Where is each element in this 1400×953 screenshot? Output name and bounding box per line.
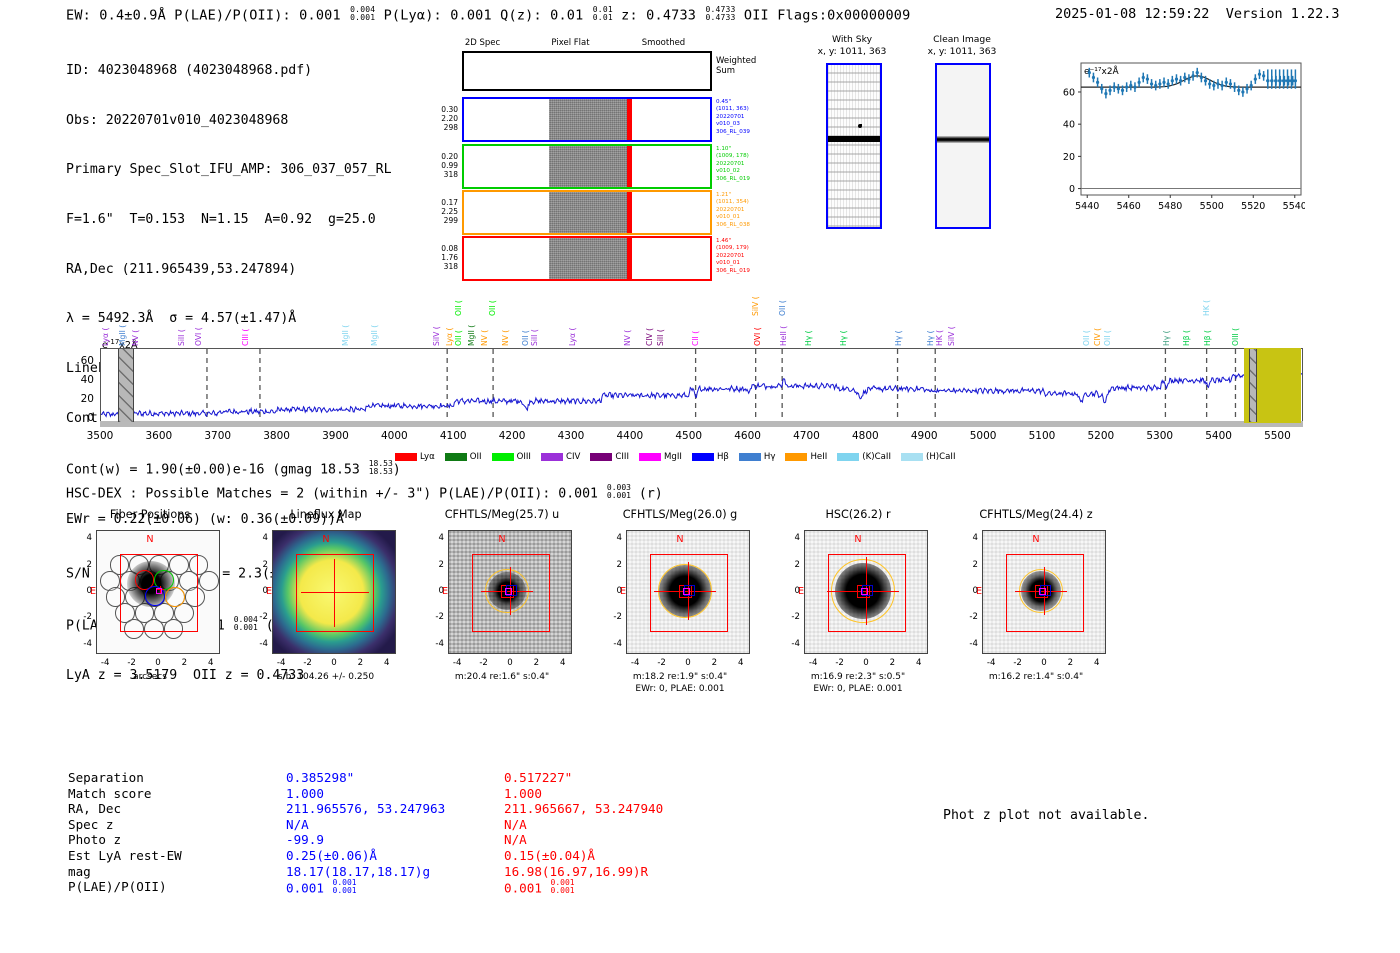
- match2-plae-fraction: 0.0010.001: [551, 879, 575, 895]
- emission-line-label: SiII (: [530, 300, 539, 346]
- cutout-ytick: -4: [66, 639, 92, 649]
- svg-text:5540: 5540: [1283, 201, 1305, 212]
- target-marker: [156, 588, 162, 594]
- emission-line-label: HeII (: [779, 300, 788, 346]
- emission-line-label: Hγ (: [804, 300, 813, 346]
- emission-line-label: MgII (: [341, 300, 350, 346]
- lineflux-cross-h: [301, 592, 369, 593]
- legend-item: Lyα: [395, 452, 435, 462]
- legend-item: (H)CaII: [901, 452, 956, 462]
- legend-swatch: [739, 453, 761, 461]
- legend-item: MgII: [639, 452, 682, 462]
- svg-text:5480: 5480: [1158, 201, 1182, 212]
- emission-line-label: OVI (: [194, 300, 203, 346]
- cutout-ytick: 2: [952, 560, 978, 570]
- cutout-ytick: 2: [774, 560, 800, 570]
- fiber-left-stats: 0.200.99318: [414, 152, 458, 180]
- cutout-ytick: -2: [418, 612, 444, 622]
- legend-item: (K)CaII: [837, 452, 891, 462]
- table-row: P(LAE)/P(OII)0.001 0.0010.0010.001 0.001…: [68, 879, 804, 896]
- spectrum-xtick: 4300: [549, 430, 593, 442]
- cutout-image: [272, 530, 396, 654]
- timestamp: 2025-01-08 12:59:22: [1055, 6, 1209, 22]
- legend-swatch: [492, 453, 514, 461]
- emission-line-label: SiII (: [177, 300, 186, 346]
- pixel-flat-cell: [549, 146, 632, 187]
- emission-line-label: Lyα (: [445, 300, 454, 346]
- match-row-label: P(LAE)/P(OII): [68, 879, 286, 896]
- cutout-xtick: 0: [854, 658, 878, 668]
- match-row-label: Spec z: [68, 817, 286, 833]
- cutout-xtick: 2: [1058, 658, 1082, 668]
- cutout-xtick: -4: [623, 658, 647, 668]
- match1-value: 0.385298": [286, 770, 504, 786]
- legend-label: Hγ: [764, 452, 776, 462]
- match2-value: 211.965667, 53.247940: [504, 801, 804, 817]
- cutout-image: [804, 530, 928, 654]
- cutout-xtick: 4: [729, 658, 753, 668]
- match1-value: 1.000: [286, 786, 504, 802]
- match1-plae-fraction: 0.0010.001: [333, 879, 357, 895]
- match-row-label: mag: [68, 864, 286, 880]
- cutout-xtick: -4: [269, 658, 293, 668]
- match-row-label: Separation: [68, 770, 286, 786]
- cutout-xtick: -2: [120, 658, 144, 668]
- header-z: z: 0.4733: [613, 7, 705, 23]
- header-z-fraction: 0.47330.4733: [705, 6, 735, 22]
- cutout-ytick: -4: [774, 639, 800, 649]
- cutout-ytick: 2: [418, 560, 444, 570]
- emission-line-label: Hγ (: [1162, 300, 1171, 346]
- cutout-xtick: 4: [907, 658, 931, 668]
- twod-spec-panel: 2D Spec Pixel Flat Smoothed WeightedSum …: [420, 38, 790, 268]
- cutout-panel-4: HSC(26.2) rNE-4-2024-4-2024m:16.9 re:2.3…: [768, 508, 948, 723]
- cutout-footer: EWr: 0, PLAE: 0.001: [754, 684, 962, 696]
- target-marker: [861, 588, 868, 595]
- cutout-ytick: 4: [418, 533, 444, 543]
- match2-value: N/A: [504, 832, 804, 848]
- emission-line-label: MgII (: [118, 300, 127, 346]
- match-row-label: Match score: [68, 786, 286, 802]
- emission-line-label: Hγ (: [894, 300, 903, 346]
- target-marker: [683, 588, 690, 595]
- emission-line-label: Lyα (: [568, 300, 577, 346]
- cutout-xtick: 0: [498, 658, 522, 668]
- spectrum-ytick: 40: [62, 374, 94, 386]
- header-timestamp-version: 2025-01-08 12:59:22 Version 1.22.3: [1055, 6, 1340, 22]
- info-obs: Obs: 20220701v010_4023048968: [66, 113, 401, 130]
- table-row: Est LyA rest-EW0.25(±0.06)Å0.15(±0.04)Å: [68, 848, 804, 864]
- svg-text:5440: 5440: [1075, 201, 1099, 212]
- cutout-xtick: -4: [445, 658, 469, 668]
- clean-image-title: Clean Imagex, y: 1011, 363: [914, 34, 1010, 57]
- cutout-ytick: 4: [596, 533, 622, 543]
- line-fit-plot: 5440546054805500552055400204060e⁻¹⁷x2Å: [1043, 57, 1305, 225]
- with-sky-coords: x, y: 1011, 363: [818, 46, 887, 57]
- cutout-ytick: -2: [66, 612, 92, 622]
- cutout-ytick: 0: [596, 586, 622, 596]
- match1-value: N/A: [286, 817, 504, 833]
- full-spectrum-plot: 0204060350036003700380039004000410042004…: [0, 270, 1400, 470]
- emission-line-label: NV (: [131, 300, 140, 346]
- legend-swatch: [395, 453, 417, 461]
- fiber-right-meta: 1.21"(1011, 354)20220701v010_01306_RL_03…: [716, 192, 788, 229]
- cutout-xtick: 2: [172, 658, 196, 668]
- svg-text:0: 0: [1069, 184, 1075, 195]
- cutout-xtick: 0: [676, 658, 700, 668]
- match-row-label: Est LyA rest-EW: [68, 848, 286, 864]
- legend-item: CIII: [590, 452, 629, 462]
- spectrum-ytick: 20: [62, 393, 94, 405]
- cutout-ytick: -4: [418, 639, 444, 649]
- fiber-right-meta: 1.10"(1009, 178)20220701v010_02306_RL_01…: [716, 146, 788, 183]
- header-ew-plae: EW: 0.4±0.9Å P(LAE)/P(OII): 0.001: [66, 7, 349, 23]
- legend-label: OIII: [517, 452, 531, 462]
- spectrum-xtick: 5300: [1138, 430, 1182, 442]
- table-row: mag18.17(18.17,18.17)g16.98(16.97,16.99)…: [68, 864, 804, 880]
- table-row: Photo z-99.9N/A: [68, 832, 804, 848]
- photz-note: Phot z plot not available.: [943, 808, 1149, 823]
- legend-label: MgII: [664, 452, 682, 462]
- cutout-xtick: 4: [199, 658, 223, 668]
- cutout-xtick: -2: [650, 658, 674, 668]
- legend-label: (H)CaII: [926, 452, 956, 462]
- legend-label: HeII: [810, 452, 827, 462]
- legend-item: Hγ: [739, 452, 776, 462]
- spectrum-xtick: 3600: [137, 430, 181, 442]
- spectrum-xtick: 4400: [608, 430, 652, 442]
- cutout-ytick: -2: [952, 612, 978, 622]
- fiber-left-stats: 0.081.76318: [414, 244, 458, 272]
- legend-swatch: [445, 453, 467, 461]
- emission-line-label: OVI (: [753, 300, 762, 346]
- cutout-panel-2: CFHTLS/Meg(25.7) uNE-4-2024-4-2024m:20.4…: [412, 508, 592, 723]
- spectrum-xtick: 3800: [255, 430, 299, 442]
- with-sky-image: [826, 63, 882, 229]
- spectrum-trace: [101, 373, 1302, 417]
- emission-line-label: OII (: [1082, 300, 1091, 346]
- cutout-xtick: -4: [801, 658, 825, 668]
- legend-label: Lyα: [420, 452, 435, 462]
- match1-value: -99.9: [286, 832, 504, 848]
- clean-image: [935, 63, 991, 229]
- header-qz-fraction: 0.010.01: [593, 6, 613, 22]
- legend-item: Hβ: [692, 452, 729, 462]
- fiber-row: [462, 144, 712, 189]
- spectrum-xtick: 5100: [1020, 430, 1064, 442]
- red-divider-bar: [627, 192, 632, 233]
- cutout-ytick: -4: [952, 639, 978, 649]
- weighted-sum-label: WeightedSum: [716, 56, 786, 76]
- cutout-xtick: 0: [146, 658, 170, 668]
- emission-line-label: MgII (: [467, 300, 476, 346]
- emission-line-label: Hγ (: [839, 300, 848, 346]
- emission-line-label: SiIV (: [432, 300, 441, 346]
- red-divider-bar: [627, 99, 632, 140]
- hscdex-match-header: HSC-DEX : Possible Matches = 2 (within +…: [66, 484, 663, 501]
- cutout-footer: m:18.2 re:1.9" s:0.4": [576, 672, 784, 684]
- spectrum-svg: [101, 349, 1302, 422]
- cutout-xtick: -2: [1006, 658, 1030, 668]
- col-header-smoothed: Smoothed: [616, 38, 711, 48]
- spectrum-ytick: 0: [62, 412, 94, 424]
- spectrum-xtick: 4200: [490, 430, 534, 442]
- target-marker: [1039, 588, 1046, 595]
- cutout-panel-1: Lineflux MapNE-4-2024-4-2024s/b: 104.26 …: [236, 508, 416, 723]
- cutout-xtick: -4: [93, 658, 117, 668]
- info-primary-spec-slot: Primary Spec_Slot_IFU_AMP: 306_037_057_R…: [66, 162, 401, 179]
- spectrum-xtick: 4700: [784, 430, 828, 442]
- cutout-xtick: 2: [524, 658, 548, 668]
- spectrum-xtick: 3900: [313, 430, 357, 442]
- cutout-xtick: 4: [1085, 658, 1109, 668]
- legend-swatch: [590, 453, 612, 461]
- cutout-xtick: 2: [702, 658, 726, 668]
- spectrum-xtick: 4500: [667, 430, 711, 442]
- cutout-title: CFHTLS/Meg(24.4) z: [946, 508, 1126, 521]
- match2-value: 0.15(±0.04)Å: [504, 848, 804, 864]
- cutout-xtick: 4: [375, 658, 399, 668]
- info-fwhm-throughput: F=1.6" T=0.153 N=1.15 A=0.92 g=25.0: [66, 212, 401, 229]
- cutout-xtick: 2: [348, 658, 372, 668]
- fiber-left-stats: 0.172.25299: [414, 198, 458, 226]
- cutout-ytick: -2: [774, 612, 800, 622]
- svg-text:5500: 5500: [1200, 201, 1224, 212]
- legend-swatch: [901, 453, 923, 461]
- cutout-xtick: -4: [979, 658, 1003, 668]
- cutout-footer: m:20.4 re:1.6" s:0.4": [398, 672, 606, 684]
- header-plae-fraction: 0.0040.001: [350, 6, 375, 22]
- emission-line-label: CII (: [691, 300, 700, 346]
- cutout-ytick: 0: [952, 586, 978, 596]
- cutout-ytick: 2: [242, 560, 268, 570]
- emission-line-label: Hβ (: [1203, 300, 1212, 346]
- match1-value: 18.17(18.17,18.17)g: [286, 864, 504, 880]
- fiber-left-stats: 0.302.20298: [414, 105, 458, 133]
- spectrum-ytick: 60: [62, 355, 94, 367]
- cutout-title: Lineflux Map: [236, 508, 416, 521]
- legend-swatch: [837, 453, 859, 461]
- emission-line-label: CIV (: [1093, 300, 1102, 346]
- spectrum-xtick: 5400: [1197, 430, 1241, 442]
- spectrum-axes: [100, 348, 1303, 423]
- version-label: Version 1.22.3: [1226, 6, 1340, 22]
- match2-value: N/A: [504, 817, 804, 833]
- cutout-ytick: -4: [242, 639, 268, 649]
- svg-text:5460: 5460: [1117, 201, 1141, 212]
- cutout-image: [626, 530, 750, 654]
- fiber-right-meta: 0.45"(1011, 363)20220701v010_03306_RL_03…: [716, 99, 788, 136]
- legend-label: Hβ: [717, 452, 729, 462]
- emission-line-label: CIII (: [241, 300, 250, 346]
- with-sky-title: With Skyx, y: 1011, 363: [806, 34, 898, 57]
- match1-value: 0.25(±0.06)Å: [286, 848, 504, 864]
- spectrum-xtick: 5500: [1255, 430, 1299, 442]
- table-row: Separation0.385298"0.517227": [68, 770, 804, 786]
- cutout-ytick: -4: [596, 639, 622, 649]
- cutout-ytick: 0: [418, 586, 444, 596]
- emission-line-label: SiIV (: [947, 300, 956, 346]
- cutout-image: [982, 530, 1106, 654]
- legend-item: OII: [445, 452, 482, 462]
- emission-line-label: SiII (: [656, 300, 665, 346]
- legend-swatch: [639, 453, 661, 461]
- emission-line-label: NV (: [623, 300, 632, 346]
- clean-image-coords: x, y: 1011, 363: [928, 46, 997, 57]
- info-id: ID: 4023048968 (4023048968.pdf): [66, 63, 401, 80]
- col-header-pixelflat: Pixel Flat: [528, 38, 613, 48]
- line-fit-svg: 5440546054805500552055400204060e⁻¹⁷x2Å: [1043, 57, 1305, 225]
- fiber-row: [462, 190, 712, 235]
- cutout-title: CFHTLS/Meg(26.0) g: [590, 508, 770, 521]
- target-marker: [505, 588, 512, 595]
- header-plya-qz: P(Lyα): 0.001 Q(z): 0.01: [375, 7, 592, 23]
- cutout-ytick: 4: [952, 533, 978, 543]
- emission-line-label: CIV (: [645, 300, 654, 346]
- masked-wavelength-region: [118, 349, 135, 422]
- spectrum-xtick: 3700: [196, 430, 240, 442]
- fiber-circle: [199, 571, 219, 591]
- spectrum-xtick: 4800: [843, 430, 887, 442]
- cutout-xtick: -2: [828, 658, 852, 668]
- fiber-row: [462, 97, 712, 142]
- match-row-label: RA, Dec: [68, 801, 286, 817]
- match-row-label: Photo z: [68, 832, 286, 848]
- header-summary-line: EW: 0.4±0.9Å P(LAE)/P(OII): 0.001 0.0040…: [66, 6, 910, 23]
- legend-item: HeII: [785, 452, 827, 462]
- legend-swatch: [692, 453, 714, 461]
- emission-line-label: HK (: [935, 300, 944, 346]
- match1-value: 211.965576, 53.247963: [286, 801, 504, 817]
- col-header-2dspec: 2D Spec: [440, 38, 525, 48]
- spectrum-xtick: 5000: [961, 430, 1005, 442]
- spectrum-grey-baseline: [100, 421, 1303, 427]
- emission-line-label: NV (: [501, 300, 510, 346]
- emission-line-label: Hβ (: [1182, 300, 1191, 346]
- cutout-xtick: -2: [472, 658, 496, 668]
- red-divider-bar: [627, 146, 632, 187]
- cutout-ytick: 4: [66, 533, 92, 543]
- cutout-xtick: -2: [296, 658, 320, 668]
- table-row: Spec zN/AN/A: [68, 817, 804, 833]
- cutout-ytick: -2: [596, 612, 622, 622]
- cutout-ytick: 4: [242, 533, 268, 543]
- spectrum-xtick: 4000: [372, 430, 416, 442]
- hscdex-plae-fraction: 0.0030.001: [607, 484, 631, 500]
- cutout-image: [96, 530, 220, 654]
- cutout-xtick: 2: [880, 658, 904, 668]
- cutout-row: Fiber PositionsNE-4-2024-4-2024arcsecsLi…: [0, 508, 1400, 723]
- emission-line-label: OIII (: [1231, 300, 1240, 346]
- header-flags: OII Flags:0x00000009: [736, 7, 911, 23]
- cutout-ytick: 2: [66, 560, 92, 570]
- emission-line-label: Hγ (: [926, 300, 935, 346]
- svg-text:5520: 5520: [1241, 201, 1265, 212]
- match2-value: 0.001 0.0010.001: [504, 879, 804, 896]
- legend-label: CIV: [566, 452, 580, 462]
- cutout-image: [448, 530, 572, 654]
- masked-wavelength-region-2: [1249, 349, 1257, 422]
- cutout-title: Fiber Positions: [60, 508, 240, 521]
- spectrum-xtick: 4100: [431, 430, 475, 442]
- table-row: Match score1.0001.000: [68, 786, 804, 802]
- svg-text:60: 60: [1063, 87, 1075, 98]
- table-row: RA, Dec211.965576, 53.247963211.965667, …: [68, 801, 804, 817]
- pixel-flat-cell: [549, 192, 632, 233]
- match2-value: 0.517227": [504, 770, 804, 786]
- cutout-panel-0: Fiber PositionsNE-4-2024-4-2024arcsecs: [60, 508, 240, 723]
- match2-value: 1.000: [504, 786, 804, 802]
- pixel-flat-cell: [549, 99, 632, 140]
- emission-line-label: Lyα (: [101, 300, 110, 346]
- svg-text:40: 40: [1063, 120, 1075, 131]
- legend-label: CIII: [615, 452, 629, 462]
- svg-text:20: 20: [1063, 152, 1075, 163]
- match2-value: 16.98(16.97,16.99)R: [504, 864, 804, 880]
- spectrum-xtick: 4600: [726, 430, 770, 442]
- legend-label: (K)CaII: [862, 452, 891, 462]
- emission-line-label: OII (: [521, 300, 530, 346]
- cutout-ytick: 0: [66, 586, 92, 596]
- spectrum-xtick: 4900: [902, 430, 946, 442]
- legend-swatch: [785, 453, 807, 461]
- emission-line-label: OII (: [488, 276, 497, 316]
- cutout-ytick: 4: [774, 533, 800, 543]
- legend-label: OII: [470, 452, 482, 462]
- cutout-title: CFHTLS/Meg(25.7) u: [412, 508, 592, 521]
- cutout-footer: m:16.2 re:1.4" s:0.4": [932, 672, 1140, 684]
- cutout-title: HSC(26.2) r: [768, 508, 948, 521]
- emission-line-label: MgII (: [370, 300, 379, 346]
- spectrum-xtick: 3500: [78, 430, 122, 442]
- legend-item: CIV: [541, 452, 580, 462]
- cutout-ytick: -2: [242, 612, 268, 622]
- match1-value: 0.001 0.0010.001: [286, 879, 504, 896]
- cutout-panel-3: CFHTLS/Meg(26.0) gNE-4-2024-4-2024m:18.2…: [590, 508, 770, 723]
- cutout-panel-5: CFHTLS/Meg(24.4) zNE-4-2024-4-2024m:16.2…: [946, 508, 1126, 723]
- cutout-footer: m:16.9 re:2.3" s:0.5": [754, 672, 962, 684]
- cutout-xtick: 0: [322, 658, 346, 668]
- cutout-ytick: 0: [242, 586, 268, 596]
- emission-line-label: OII (: [1103, 300, 1112, 346]
- spectrum-legend: LyαOIIOIIICIVCIIIMgIIHβHγHeII(K)CaII(H)C…: [395, 452, 956, 462]
- legend-item: OIII: [492, 452, 531, 462]
- cutout-xtick: 0: [1032, 658, 1056, 668]
- cutout-ytick: 0: [774, 586, 800, 596]
- cutout-ytick: 2: [596, 560, 622, 570]
- emission-line-label: OII (: [454, 276, 463, 316]
- spectrum-xtick: 5200: [1079, 430, 1123, 442]
- weighted-sum-strip: [462, 51, 712, 91]
- cutout-footer: EWr: 0, PLAE: 0.001: [576, 684, 784, 696]
- match-table: Separation0.385298"0.517227"Match score1…: [68, 770, 804, 896]
- cutout-xtick: 4: [551, 658, 575, 668]
- legend-swatch: [541, 453, 563, 461]
